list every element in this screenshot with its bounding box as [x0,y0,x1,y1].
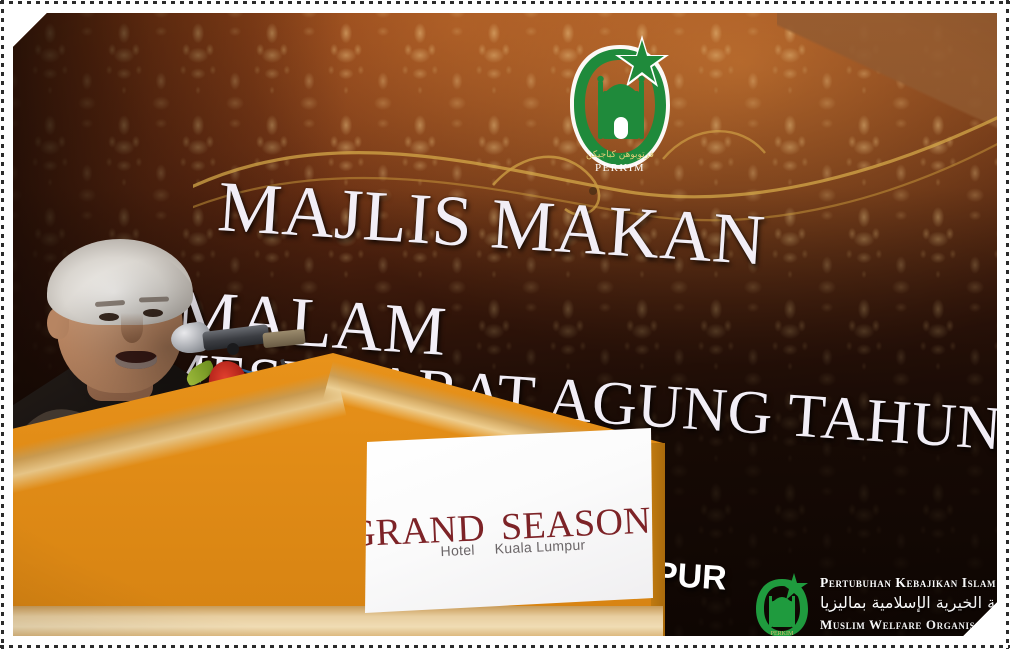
frame-dotted-edge-left [1,0,4,649]
podium-base-trim [13,606,663,636]
frame-dotted-edge-top [0,1,1010,4]
perkim-logo-bottom: PERKIM Pertubuhan Kebajikan Islam Malays… [748,571,997,636]
frame-dotted-edge-right [1006,0,1009,649]
svg-text:PERKIM: PERKIM [771,631,794,636]
svg-text:PERKIM: PERKIM [595,162,645,174]
frame-dotted-edge-bottom [0,645,1010,648]
perkim-name-malay: Pertubuhan Kebajikan Islam Malaysia [820,575,997,591]
perkim-emblem-top: فرتوبوهن کباجيكن PERKIM [558,29,683,177]
photograph-container: فرتوبوهن کباجيكن PERKIM MAJLIS MAKAN MAL… [0,0,1010,649]
microphone-mount [262,329,305,348]
perkim-name-arabic: الجمعية الخيرية الإسلامية بماليزيا [820,593,997,612]
hotel-sign-plaque: GRAND SEASONS Hotel Kuala Lumpur [365,428,653,613]
perkim-emblem-bottom-icon: PERKIM [748,573,816,636]
svg-text:فرتوبوهن کباجيكن: فرتوبوهن کباجيكن [586,150,654,160]
photo-canvas: فرتوبوهن کباجيكن PERKIM MAJLIS MAKAN MAL… [13,13,997,636]
